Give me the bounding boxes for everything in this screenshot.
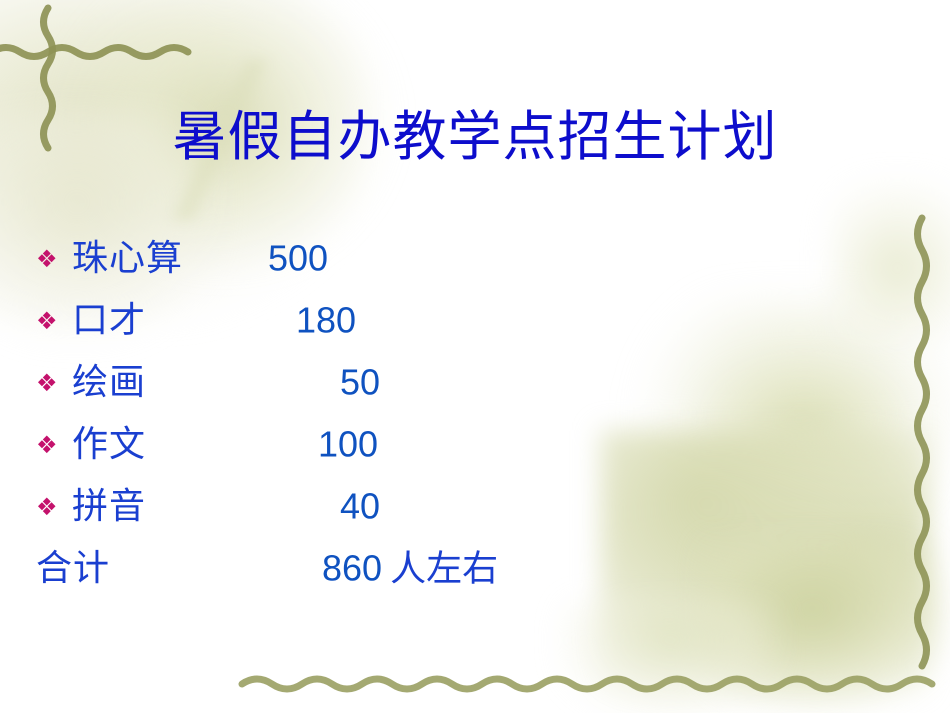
list-item: ❖ 绘画 50 [0, 352, 760, 414]
foliage-bottom-center [560, 600, 780, 713]
list-item-number: 50 [340, 362, 380, 403]
list-item-label: 珠心算 [72, 237, 183, 281]
list-item-label: 拼音 [72, 485, 146, 529]
diamond-bullet-icon: ❖ [36, 309, 62, 333]
list-item-suffix [378, 425, 386, 466]
list-item-suffix [356, 301, 364, 342]
total-number: 860 [322, 548, 382, 589]
list-item-value: 100 [318, 423, 386, 468]
list-item-number: 100 [318, 424, 378, 465]
list-item-number: 180 [296, 300, 356, 341]
list-item-suffix [328, 239, 336, 280]
list-item-number: 40 [340, 486, 380, 527]
diamond-bullet-icon: ❖ [36, 433, 62, 457]
list-item-value: 500 [268, 237, 336, 282]
total-value: 860人左右 [322, 547, 498, 592]
total-label: 合计 [36, 547, 110, 591]
list-item-value: 50 [340, 361, 388, 406]
list-item: ❖ 作文 100 [0, 414, 760, 476]
list-item-label: 作文 [72, 423, 146, 467]
page-title: 暑假自办教学点招生计划 [0, 104, 950, 170]
total-suffix: 人左右 [382, 549, 498, 590]
slide-canvas: 暑假自办教学点招生计划 ❖ 珠心算 500 ❖ 口才 180 ❖ 绘画 50 ❖… [0, 0, 950, 713]
diamond-bullet-icon: ❖ [36, 495, 62, 519]
list-item-total: 合计 860人左右 [0, 538, 760, 600]
list-item-suffix [380, 363, 388, 404]
list-item-value: 180 [296, 299, 364, 344]
list-item: ❖ 珠心算 500 [0, 228, 760, 290]
list-item-number: 500 [268, 238, 328, 279]
diamond-bullet-icon: ❖ [36, 371, 62, 395]
foliage-upper-right [830, 180, 950, 340]
enrollment-plan-list: ❖ 珠心算 500 ❖ 口才 180 ❖ 绘画 50 ❖ 作文 100 [0, 228, 760, 600]
list-item-label: 口才 [72, 299, 146, 343]
list-item-label: 绘画 [72, 361, 146, 405]
list-item: ❖ 口才 180 [0, 290, 760, 352]
diamond-bullet-icon: ❖ [36, 247, 62, 271]
list-item-suffix [380, 487, 388, 528]
list-item-value: 40 [340, 485, 388, 530]
list-item: ❖ 拼音 40 [0, 476, 760, 538]
